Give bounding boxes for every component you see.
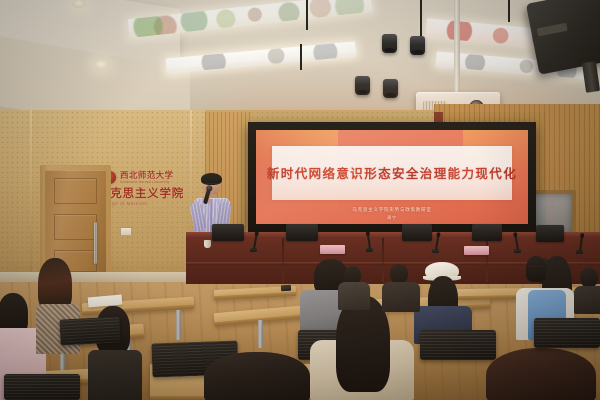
dais-chair-3[interactable]	[402, 224, 432, 241]
ceiling	[0, 0, 600, 118]
dais-chair-2[interactable]	[286, 224, 318, 241]
wall-sign-university-en: Northwest Normal University	[120, 181, 170, 184]
name-placard-2	[464, 246, 489, 255]
dais-chair-4[interactable]	[472, 224, 502, 241]
student-bg-far-right-head	[580, 268, 598, 288]
student-bg-far-right-torso	[574, 286, 600, 314]
student-bg-far-right	[576, 268, 600, 312]
slide-title: 新时代网络意识形态安全治理能力现代化	[267, 163, 517, 182]
dais-chair-1[interactable]	[212, 224, 244, 241]
chair-left-1[interactable]	[59, 316, 120, 345]
light-panel-print-2	[166, 41, 357, 73]
door-panel-1	[54, 178, 97, 204]
slide-footer: 马克思主义学院形势与政策教研室 周宁	[256, 208, 528, 221]
chair-foreground-right[interactable]	[534, 318, 600, 348]
student-dark-jacket-torso	[88, 350, 142, 400]
ceiling-camera-arm	[582, 61, 600, 93]
ceiling-wire-1	[306, 0, 308, 30]
student-bg-right-1-torso	[382, 282, 420, 312]
projection-screen-bezel: 新时代网络意识形态安全治理能力现代化 马克思主义学院形势与政策教研室 周宁	[248, 122, 536, 232]
door-handle[interactable]	[94, 222, 97, 264]
water-cup	[204, 240, 211, 248]
student-foreground-left	[204, 352, 312, 400]
student-bg-right-1-head	[390, 264, 408, 284]
ceiling-wire-3	[420, 0, 422, 36]
ceiling-wire-4	[508, 0, 510, 22]
ceiling-spotlight-3	[355, 76, 370, 95]
ceiling-spotlight-4	[383, 79, 398, 98]
student-foreground-right	[486, 348, 598, 400]
dais-seam-3	[486, 238, 488, 282]
student-foreground-right-hair	[486, 348, 596, 400]
desk-leg-mid-right	[258, 320, 263, 348]
slide-title-band: 新时代网络意识形态安全治理能力现代化	[272, 146, 511, 200]
student-bg-right-1	[382, 264, 422, 310]
ceiling-light-panel-2	[166, 41, 357, 73]
student-bg-right-2-torso	[338, 282, 370, 310]
wall-sign-university-cn: 西北师范大学	[120, 171, 173, 180]
gooseneck-microphone-5	[579, 236, 583, 251]
slide-footer-line1: 马克思主义学院形势与政策教研室	[256, 208, 528, 215]
projection-screen: 新时代网络意识形态安全治理能力现代化 马克思主义学院形势与政策教研室 周宁	[256, 130, 528, 224]
door-panel-2	[54, 214, 97, 240]
desk-leg-left-upper-2	[176, 310, 181, 340]
ceiling-downlight-2	[94, 60, 108, 69]
projector-mount-pole	[454, 0, 460, 96]
chair-center-right[interactable]	[420, 330, 496, 360]
ceiling-wire-2	[300, 44, 302, 70]
dais-seam-1	[282, 238, 284, 282]
chair-left-2[interactable]	[4, 374, 80, 400]
name-placard-1	[320, 245, 345, 254]
student-foreground-left-hair	[204, 352, 310, 400]
student-bg-right-2	[338, 266, 372, 308]
ceiling-spotlight-1	[382, 34, 397, 53]
lecture-hall-photo: 西北师范大学 Northwest Normal University 马克思主义…	[0, 0, 600, 400]
ceiling-spotlight-2	[410, 36, 425, 55]
slide-footer-line2: 周宁	[256, 215, 528, 221]
dais-chair-5[interactable]	[536, 225, 564, 242]
smartphone	[281, 285, 291, 292]
light-switch-plate[interactable]	[120, 227, 132, 236]
student-blue-vest-glasses-icon	[530, 266, 544, 270]
